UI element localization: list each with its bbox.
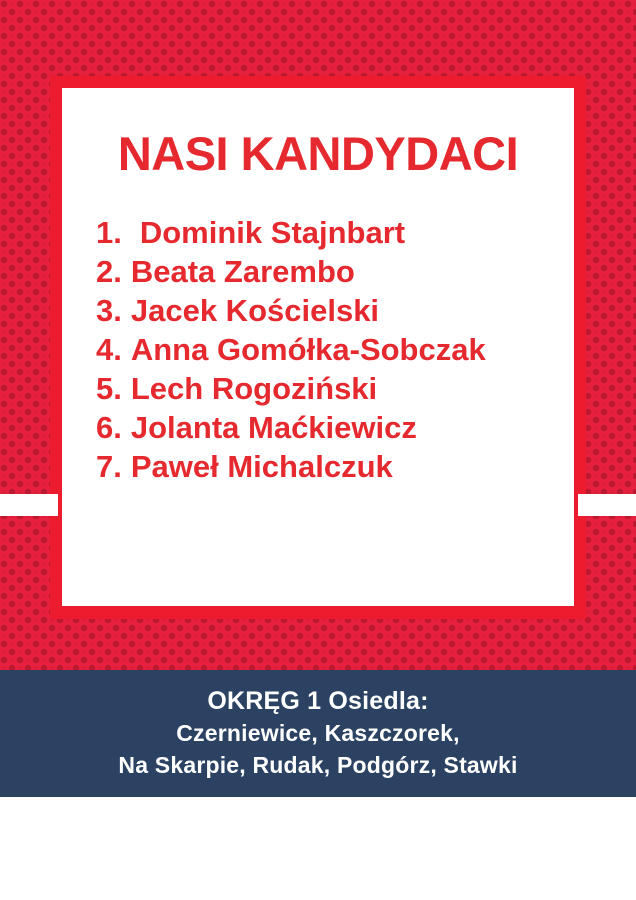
candidate-name: Jacek Kościelski bbox=[131, 291, 379, 330]
candidate-number: 5. bbox=[96, 369, 122, 408]
page-title: NASI KANDYDACI bbox=[82, 130, 554, 177]
candidate-name: Beata Zarembo bbox=[131, 252, 355, 291]
list-item: 5. Lech Rogoziński bbox=[96, 369, 554, 408]
candidate-number: 4. bbox=[96, 330, 122, 369]
district-line-1: Czerniewice, Kaszczorek, bbox=[0, 718, 636, 750]
candidate-list: 1. Dominik Stajnbart 2. Beata Zarembo 3.… bbox=[82, 213, 554, 486]
candidate-number: 7. bbox=[96, 447, 122, 486]
district-heading: OKRĘG 1 Osiedla: bbox=[0, 685, 636, 718]
candidate-number: 6. bbox=[96, 408, 122, 447]
candidate-number: 3. bbox=[96, 291, 122, 330]
poster-footer: SILNY SAMORZĄD DEMOKRATYCZNA POLSKA SLD … bbox=[0, 797, 636, 900]
candidate-number: 1. bbox=[96, 213, 122, 252]
list-item: 4. Anna Gomółka-Sobczak bbox=[96, 330, 554, 369]
candidate-name: Paweł Michalczuk bbox=[131, 447, 393, 486]
candidate-name: Jolanta Maćkiewicz bbox=[131, 408, 417, 447]
candidate-name: Anna Gomółka-Sobczak bbox=[131, 330, 486, 369]
district-line-2: Na Skarpie, Rudak, Podgórz, Stawki bbox=[0, 750, 636, 782]
campaign-poster: NASI KANDYDACI 1. Dominik Stajnbart 2. B… bbox=[0, 0, 636, 900]
list-item: 3. Jacek Kościelski bbox=[96, 291, 554, 330]
candidate-name: Lech Rogoziński bbox=[131, 369, 377, 408]
candidate-name: Dominik Stajnbart bbox=[140, 213, 405, 252]
list-item: 1. Dominik Stajnbart bbox=[96, 213, 554, 252]
list-item: 2. Beata Zarembo bbox=[96, 252, 554, 291]
list-item: 7. Paweł Michalczuk bbox=[96, 447, 554, 486]
accent-bar-right bbox=[578, 494, 636, 516]
district-band: OKRĘG 1 Osiedla: Czerniewice, Kaszczorek… bbox=[0, 670, 636, 797]
candidate-number: 2. bbox=[96, 252, 122, 291]
accent-bar-left bbox=[0, 494, 58, 516]
list-item: 6. Jolanta Maćkiewicz bbox=[96, 408, 554, 447]
candidates-card: NASI KANDYDACI 1. Dominik Stajnbart 2. B… bbox=[62, 88, 574, 606]
